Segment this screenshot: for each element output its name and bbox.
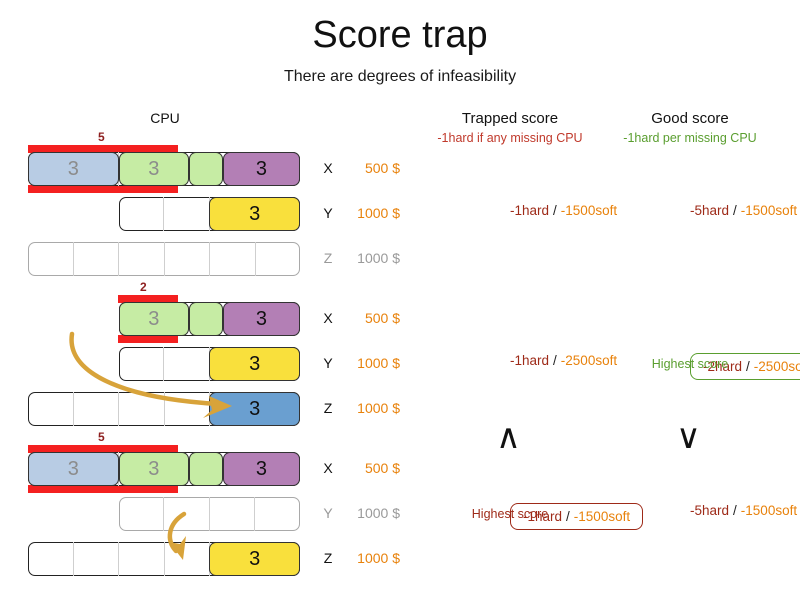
slide-canvas: Score trap There are degrees of infeasib…	[0, 0, 800, 600]
move-arrow-group-3	[0, 0, 800, 600]
